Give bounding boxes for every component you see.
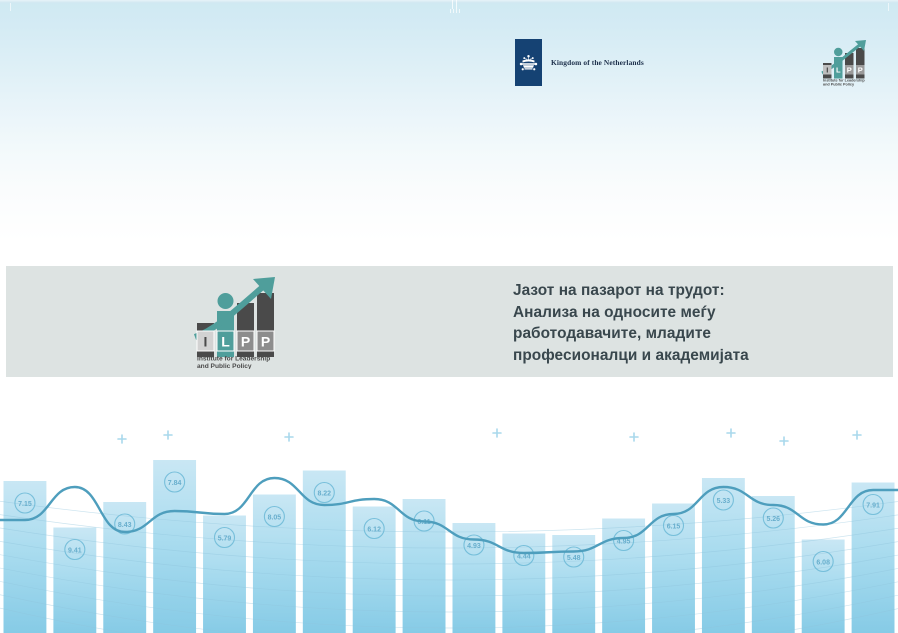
sparkle-icon: [853, 431, 861, 439]
chart-bar: [203, 516, 246, 633]
svg-text:5.79: 5.79: [218, 536, 232, 543]
svg-text:6.15: 6.15: [667, 524, 681, 531]
page-title-line: работодавачите, младите: [513, 323, 843, 345]
svg-text:7.84: 7.84: [168, 480, 182, 487]
svg-text:P: P: [241, 334, 250, 350]
donor-logo-label: Kingdom of the Netherlands: [551, 58, 644, 67]
netherlands-crown-icon: [515, 39, 542, 86]
ilpp-letters: I L P P: [823, 65, 865, 75]
chart-bar: [602, 519, 645, 633]
top-rule: [0, 0, 898, 3]
svg-text:5.48: 5.48: [567, 555, 581, 562]
ilpp-figure-icon: [834, 48, 843, 57]
svg-text:I: I: [204, 334, 208, 350]
svg-text:8.22: 8.22: [317, 491, 331, 498]
top-edge-tick-left: [10, 3, 11, 11]
ilpp-tagline-line1: Institute for Leadership: [197, 356, 270, 363]
svg-text:7.91: 7.91: [866, 503, 880, 510]
ilpp-figure-icon: [218, 293, 234, 309]
svg-text:P: P: [261, 334, 270, 350]
ilpp-logo-small: I L P P Institute for Leadership and Pub…: [818, 37, 876, 87]
svg-text:6.08: 6.08: [816, 560, 830, 567]
svg-text:P: P: [847, 66, 852, 75]
sparkle-icon: [493, 429, 501, 437]
ilpp-tagline-line2: and Public Policy: [823, 83, 855, 87]
page-title: Јазот на пазарот на трудот: Анализа на о…: [513, 280, 843, 366]
svg-text:8.05: 8.05: [268, 515, 282, 522]
donor-logo: Kingdom of the Netherlands: [515, 39, 644, 86]
svg-text:5.33: 5.33: [717, 498, 731, 505]
top-gradient-background: [0, 0, 898, 262]
svg-text:8.43: 8.43: [118, 522, 132, 529]
top-tick-mark: [456, 0, 457, 9]
sparkle-icon: [727, 429, 735, 437]
chart-bar: [353, 507, 396, 633]
chart-bar: [53, 528, 96, 633]
report-cover-page: Kingdom of the Netherlands I: [0, 0, 898, 633]
svg-text:4.44: 4.44: [517, 554, 531, 561]
svg-text:5.26: 5.26: [766, 516, 780, 523]
sparkle-icon: [118, 435, 126, 443]
sparkle-icon: [285, 433, 293, 441]
ilpp-tagline-line2: and Public Policy: [197, 363, 252, 369]
decorative-chart-graphic: 7.159.418.437.845.798.058.226.126.114.93…: [0, 377, 898, 633]
ilpp-logo-main: I L P P Institute for Leadership and Pub…: [191, 275, 281, 369]
svg-text:7.15: 7.15: [18, 501, 32, 508]
svg-text:I: I: [826, 66, 828, 75]
page-title-line: Јазот на пазарот на трудот:: [513, 280, 843, 302]
svg-text:L: L: [836, 66, 841, 75]
sparkle-icon: [630, 433, 638, 441]
top-tick-mark: [452, 0, 453, 9]
svg-text:4.95: 4.95: [617, 539, 631, 546]
chart-bar: [502, 534, 545, 633]
sparkle-icon: [164, 431, 172, 439]
top-edge-tick-right: [888, 3, 889, 11]
top-dot-marks: [450, 9, 462, 13]
ilpp-letters: I L P P: [197, 331, 274, 351]
page-title-line: Анализа на односите меѓу: [513, 302, 843, 324]
ilpp-tagline-line1: Institute for Leadership: [823, 79, 865, 83]
svg-text:6.12: 6.12: [367, 527, 381, 534]
svg-text:L: L: [221, 334, 230, 350]
sparkle-icon: [780, 437, 788, 445]
svg-text:4.93: 4.93: [467, 543, 481, 550]
svg-text:9.41: 9.41: [68, 548, 82, 555]
page-title-line: професионалци и академијата: [513, 345, 843, 367]
svg-text:P: P: [858, 66, 863, 75]
